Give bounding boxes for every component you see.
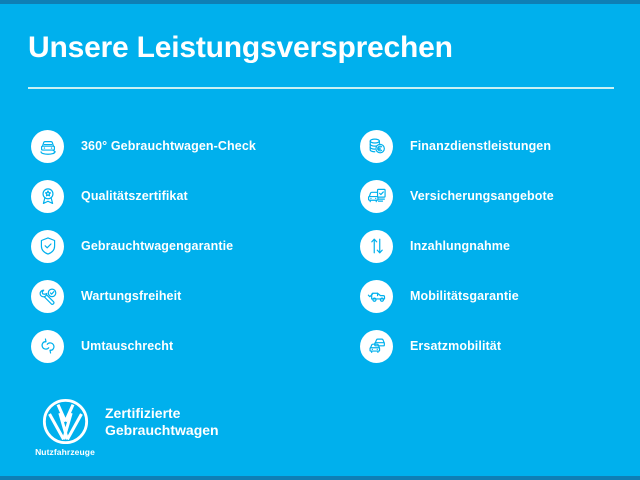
- benefit-label: Inzahlungnahme: [410, 239, 510, 253]
- vw-brand-mark: Nutzfahrzeuge: [32, 398, 98, 457]
- footer-tagline-line1: Zertifizierte: [105, 405, 219, 422]
- benefit-item[interactable]: Finanzdienstleistungen: [360, 121, 630, 171]
- top-edge-strip: [0, 0, 640, 4]
- benefit-label: 360° Gebrauchtwagen-Check: [81, 139, 256, 153]
- shield-check-icon: [31, 230, 64, 263]
- van-check-icon: [360, 280, 393, 313]
- benefit-label: Gebrauchtwagengarantie: [81, 239, 233, 253]
- bottom-edge-strip: [0, 476, 640, 480]
- quality-award-icon: [31, 180, 64, 213]
- car-document-check-icon: [360, 180, 393, 213]
- benefit-label: Ersatzmobilität: [410, 339, 501, 353]
- vw-brand-subline: Nutzfahrzeuge: [32, 447, 98, 457]
- exchange-arrows-icon: [31, 330, 64, 363]
- footer-tagline-line2: Gebrauchtwagen: [105, 422, 219, 439]
- benefit-label: Versicherungsangebote: [410, 189, 554, 203]
- car-360-check-icon: [31, 130, 64, 163]
- benefit-label: Mobilitätsgarantie: [410, 289, 519, 303]
- coins-euro-icon: [360, 130, 393, 163]
- vw-logo-icon: [42, 398, 89, 445]
- benefit-item[interactable]: Qualitätszertifikat: [31, 171, 331, 221]
- page-title: Unsere Leistungsversprechen: [28, 30, 453, 66]
- benefit-label: Finanzdienstleistungen: [410, 139, 551, 153]
- benefit-item[interactable]: Wartungsfreiheit: [31, 271, 331, 321]
- footer-tagline: Zertifizierte Gebrauchtwagen: [105, 405, 219, 439]
- two-cars-icon: [360, 330, 393, 363]
- benefit-item[interactable]: Mobilitätsgarantie: [360, 271, 630, 321]
- benefit-item[interactable]: Umtauschrecht: [31, 321, 331, 371]
- benefits-column-right: Finanzdienstleistungen Versicheru: [360, 121, 630, 371]
- benefit-item[interactable]: 360° Gebrauchtwagen-Check: [31, 121, 331, 171]
- title-divider: [28, 87, 614, 89]
- benefit-label: Qualitätszertifikat: [81, 189, 188, 203]
- up-down-arrows-icon: [360, 230, 393, 263]
- wrench-check-icon: [31, 280, 64, 313]
- benefit-item[interactable]: Inzahlungnahme: [360, 221, 630, 271]
- benefit-item[interactable]: Gebrauchtwagengarantie: [31, 221, 331, 271]
- benefit-label: Wartungsfreiheit: [81, 289, 181, 303]
- slide-canvas: Unsere Leistungsversprechen 360° Gebrauc: [0, 0, 640, 480]
- benefits-column-left: 360° Gebrauchtwagen-Check Qualitätszerti…: [31, 121, 331, 371]
- benefit-item[interactable]: Ersatzmobilität: [360, 321, 630, 371]
- benefit-label: Umtauschrecht: [81, 339, 173, 353]
- benefit-item[interactable]: Versicherungsangebote: [360, 171, 630, 221]
- footer-brand-block: Nutzfahrzeuge Zertifizierte Gebrauchtwag…: [28, 396, 328, 466]
